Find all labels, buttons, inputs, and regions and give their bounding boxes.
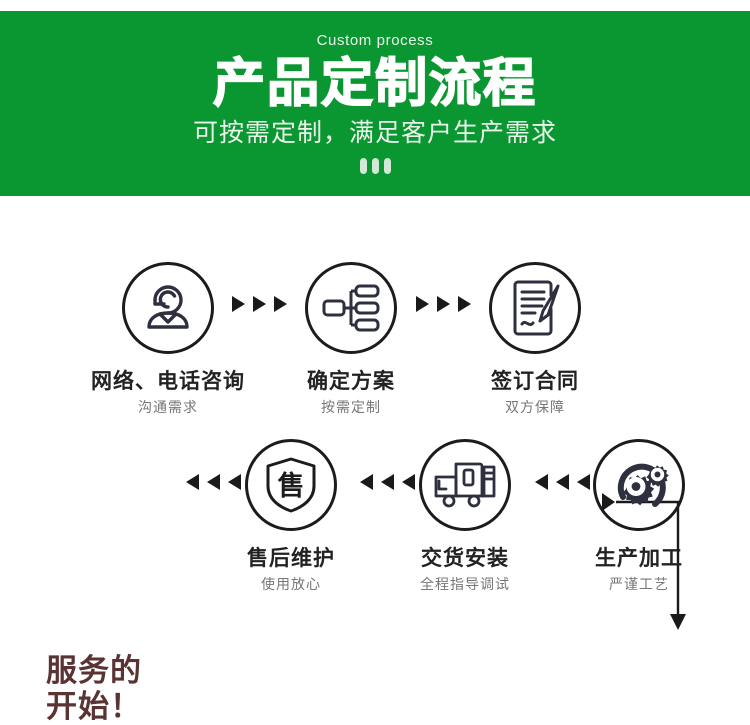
step-subtitle: 按需定制 [266, 400, 436, 415]
arrow-left-icon [535, 474, 548, 490]
contract-signing-icon [507, 279, 563, 337]
arrow-right-icon [437, 296, 450, 312]
divider-dot [360, 158, 367, 174]
step-title: 确定方案 [266, 370, 436, 393]
page-title: 产品定制流程 [213, 57, 537, 112]
arrow-right-icon [253, 296, 266, 312]
flow-step-after-sales: 售 售后维护 使用放心 [206, 439, 376, 592]
divider-dot [384, 158, 391, 174]
step-title: 网络、电话咨询 [83, 370, 253, 393]
arrow-left-icon [186, 474, 199, 490]
svg-text:售: 售 [278, 470, 305, 502]
arrow-right-icon [232, 296, 245, 312]
after-sales-shield-icon: 售 [264, 456, 318, 514]
step-icon-circle [593, 439, 685, 531]
step-icon-circle [489, 262, 581, 354]
banner-divider-dots [360, 158, 391, 174]
flow-step-contract: 签订合同 双方保障 [450, 262, 620, 415]
step-subtitle: 全程指导调试 [380, 577, 550, 592]
step-icon-circle: 售 [245, 439, 337, 531]
flow-step-production: 生产加工 严谨工艺 [554, 439, 724, 592]
callout-line-2: 开始！ [46, 689, 196, 725]
step-subtitle: 使用放心 [206, 577, 376, 592]
divider-dot [372, 158, 379, 174]
step-icon-circle [122, 262, 214, 354]
step-title: 交货安装 [380, 547, 550, 570]
flow-step-consultation: 网络、电话咨询 沟通需求 [83, 262, 253, 415]
step-title: 生产加工 [554, 547, 724, 570]
arrow-left-icon [360, 474, 373, 490]
callout-line-1: 服务的 [46, 653, 196, 689]
flow-step-delivery: 交货安装 全程指导调试 [380, 439, 550, 592]
customer-service-person-icon [138, 279, 198, 337]
gears-production-icon [608, 456, 670, 514]
flow-step-plan: 确定方案 按需定制 [266, 262, 436, 415]
step-title: 售后维护 [206, 547, 376, 570]
arrow-right-icon [416, 296, 429, 312]
banner-tagline: 可按需定制，满足客户生产需求 [193, 120, 557, 148]
step-subtitle: 严谨工艺 [554, 577, 724, 592]
step-icon-circle [419, 439, 511, 531]
step-icon-circle [305, 262, 397, 354]
banner-eyebrow: Custom process [317, 33, 434, 48]
step-title: 签订合同 [450, 370, 620, 393]
flowchart-plan-icon [322, 284, 380, 332]
header-banner: Custom process 产品定制流程 可按需定制，满足客户生产需求 [0, 11, 750, 196]
process-flow-diagram: 网络、电话咨询 沟通需求 确定方案 按需定制 [0, 196, 750, 634]
delivery-truck-icon [434, 460, 496, 510]
step-subtitle: 双方保障 [450, 400, 620, 415]
step-subtitle: 沟通需求 [83, 400, 253, 415]
service-start-callout: 服务的 开始！ [46, 653, 196, 725]
